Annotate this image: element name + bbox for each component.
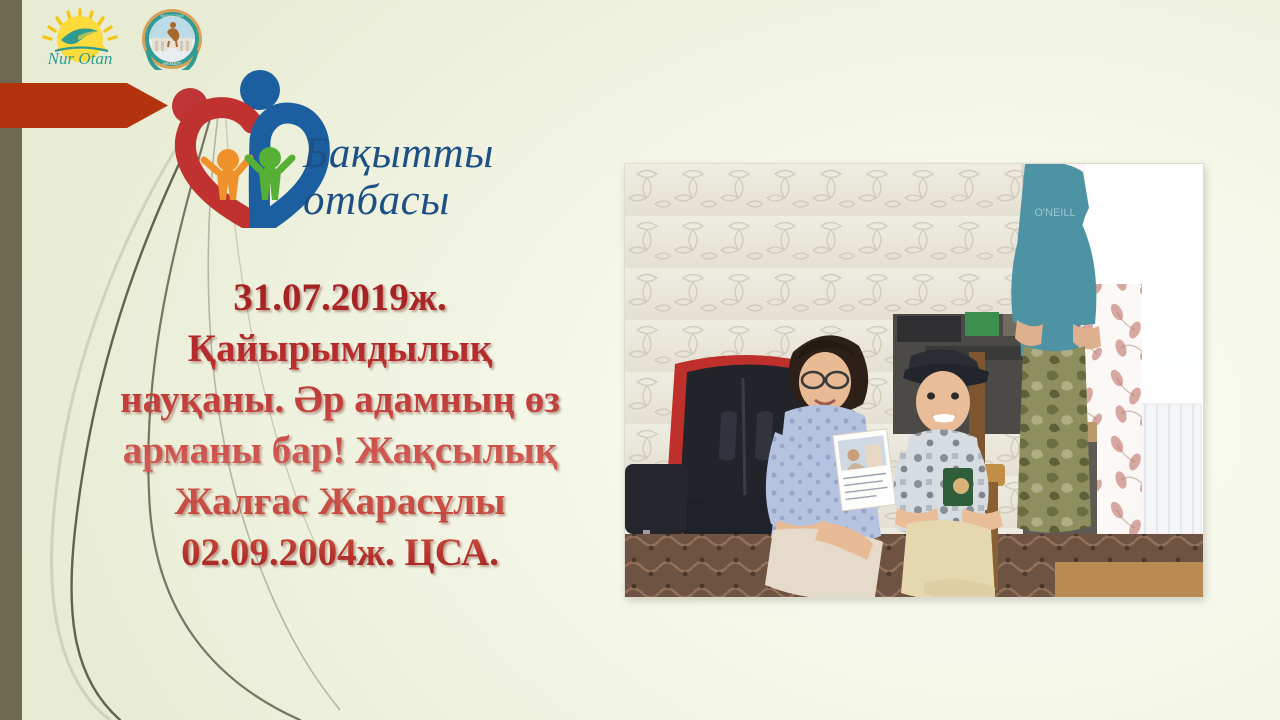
headline-line-3: науқаны. Әр адамның өз (60, 374, 620, 425)
program-title-line1: Бақытты (303, 130, 494, 177)
headline-line-6: 02.09.2004ж. ЦСА. (60, 527, 620, 578)
headline-line-4: арманы бар! Жақсылық (60, 425, 620, 476)
svg-text:O'NEILL: O'NEILL (1034, 207, 1075, 219)
headline-block: 31.07.2019ж. Қайырымдылық науқаны. Әр ад… (60, 272, 620, 578)
left-olive-bar-top (0, 0, 22, 83)
program-title: Бақыттыотбасы (303, 130, 494, 224)
photo-content: O'NEILL (625, 164, 1203, 597)
svg-text:ӘКІМДІГІ: ӘКІМДІГІ (163, 61, 182, 66)
slide-canvas: Nur Otan ҚАЗАҚСТАН ӘКІМДІГІ (0, 0, 1280, 720)
family-charity-photo: O'NEILL (625, 164, 1203, 597)
headline-line-2: Қайырымдылық (60, 323, 620, 374)
svg-text:Nur Otan: Nur Otan (47, 49, 113, 68)
program-title-line2: отбасы (303, 177, 450, 224)
regional-emblem-icon: ҚАЗАҚСТАН ӘКІМДІГІ (136, 8, 208, 70)
nur-otan-logo-icon: Nur Otan (28, 6, 132, 68)
svg-text:ҚАЗАҚСТАН: ҚАЗАҚСТАН (161, 13, 184, 18)
headline-line-1: 31.07.2019ж. (60, 272, 620, 323)
headline-line-5: Жалғас Жарасұлы (60, 476, 620, 527)
